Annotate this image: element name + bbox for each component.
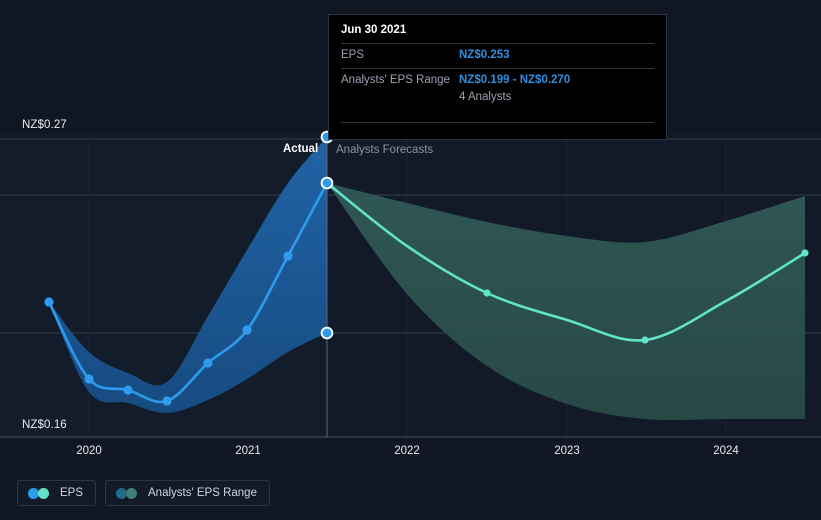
forecast-data-point[interactable]: [801, 249, 808, 256]
x-axis-tick-label: 2020: [76, 445, 102, 457]
tooltip-eps-key: EPS: [341, 48, 459, 62]
eps-data-point[interactable]: [203, 358, 212, 367]
forecast-data-point[interactable]: [641, 336, 648, 343]
eps-growth-chart: NZ$0.27 NZ$0.16 20202021202220232024 Act…: [0, 0, 821, 520]
x-axis-tick-label: 2021: [235, 445, 261, 457]
highlighted-data-point[interactable]: [322, 328, 333, 339]
legend-swatch-range-icon: [116, 488, 140, 499]
tooltip-range-number: NZ$0.199 - NZ$0.270: [459, 74, 570, 86]
highlighted-data-point[interactable]: [322, 178, 333, 189]
eps-data-point[interactable]: [84, 374, 93, 383]
legend-label-analysts-range: Analysts' EPS Range: [148, 487, 257, 499]
eps-data-point[interactable]: [44, 297, 53, 306]
legend-swatch-eps-icon: [28, 488, 52, 499]
y-axis-max-label: NZ$0.27: [22, 119, 67, 131]
eps-data-point[interactable]: [162, 396, 171, 405]
y-axis-min-label: NZ$0.16: [22, 419, 67, 431]
eps-data-point[interactable]: [283, 251, 292, 260]
legend-label-eps: EPS: [60, 487, 83, 499]
legend-item-eps[interactable]: EPS: [17, 480, 96, 506]
eps-data-point[interactable]: [242, 325, 251, 334]
tooltip-row-eps: EPS NZ$0.253: [341, 43, 654, 68]
actual-period-label: Actual: [283, 143, 318, 155]
legend-item-analysts-range[interactable]: Analysts' EPS Range: [105, 480, 270, 506]
x-axis-tick-label: 2023: [554, 445, 580, 457]
tooltip-footer-divider: [341, 122, 654, 133]
tooltip-row-range: Analysts' EPS Range NZ$0.199 - NZ$0.270 …: [341, 68, 654, 108]
eps-data-point[interactable]: [123, 385, 132, 394]
tooltip-analyst-count: 4 Analysts: [459, 87, 654, 104]
tooltip-eps-value: NZ$0.253: [459, 48, 654, 62]
tooltip-title: Jun 30 2021: [341, 24, 654, 43]
forecast-data-point[interactable]: [483, 289, 490, 296]
data-point-tooltip: Jun 30 2021 EPS NZ$0.253 Analysts' EPS R…: [328, 14, 667, 140]
forecast-period-label: Analysts Forecasts: [336, 144, 433, 156]
tooltip-range-value: NZ$0.199 - NZ$0.270 4 Analysts: [459, 73, 654, 104]
x-axis-tick-label: 2022: [394, 445, 420, 457]
tooltip-range-key: Analysts' EPS Range: [341, 73, 459, 87]
chart-legend: EPS Analysts' EPS Range: [17, 480, 270, 506]
x-axis-tick-label: 2024: [713, 445, 739, 457]
